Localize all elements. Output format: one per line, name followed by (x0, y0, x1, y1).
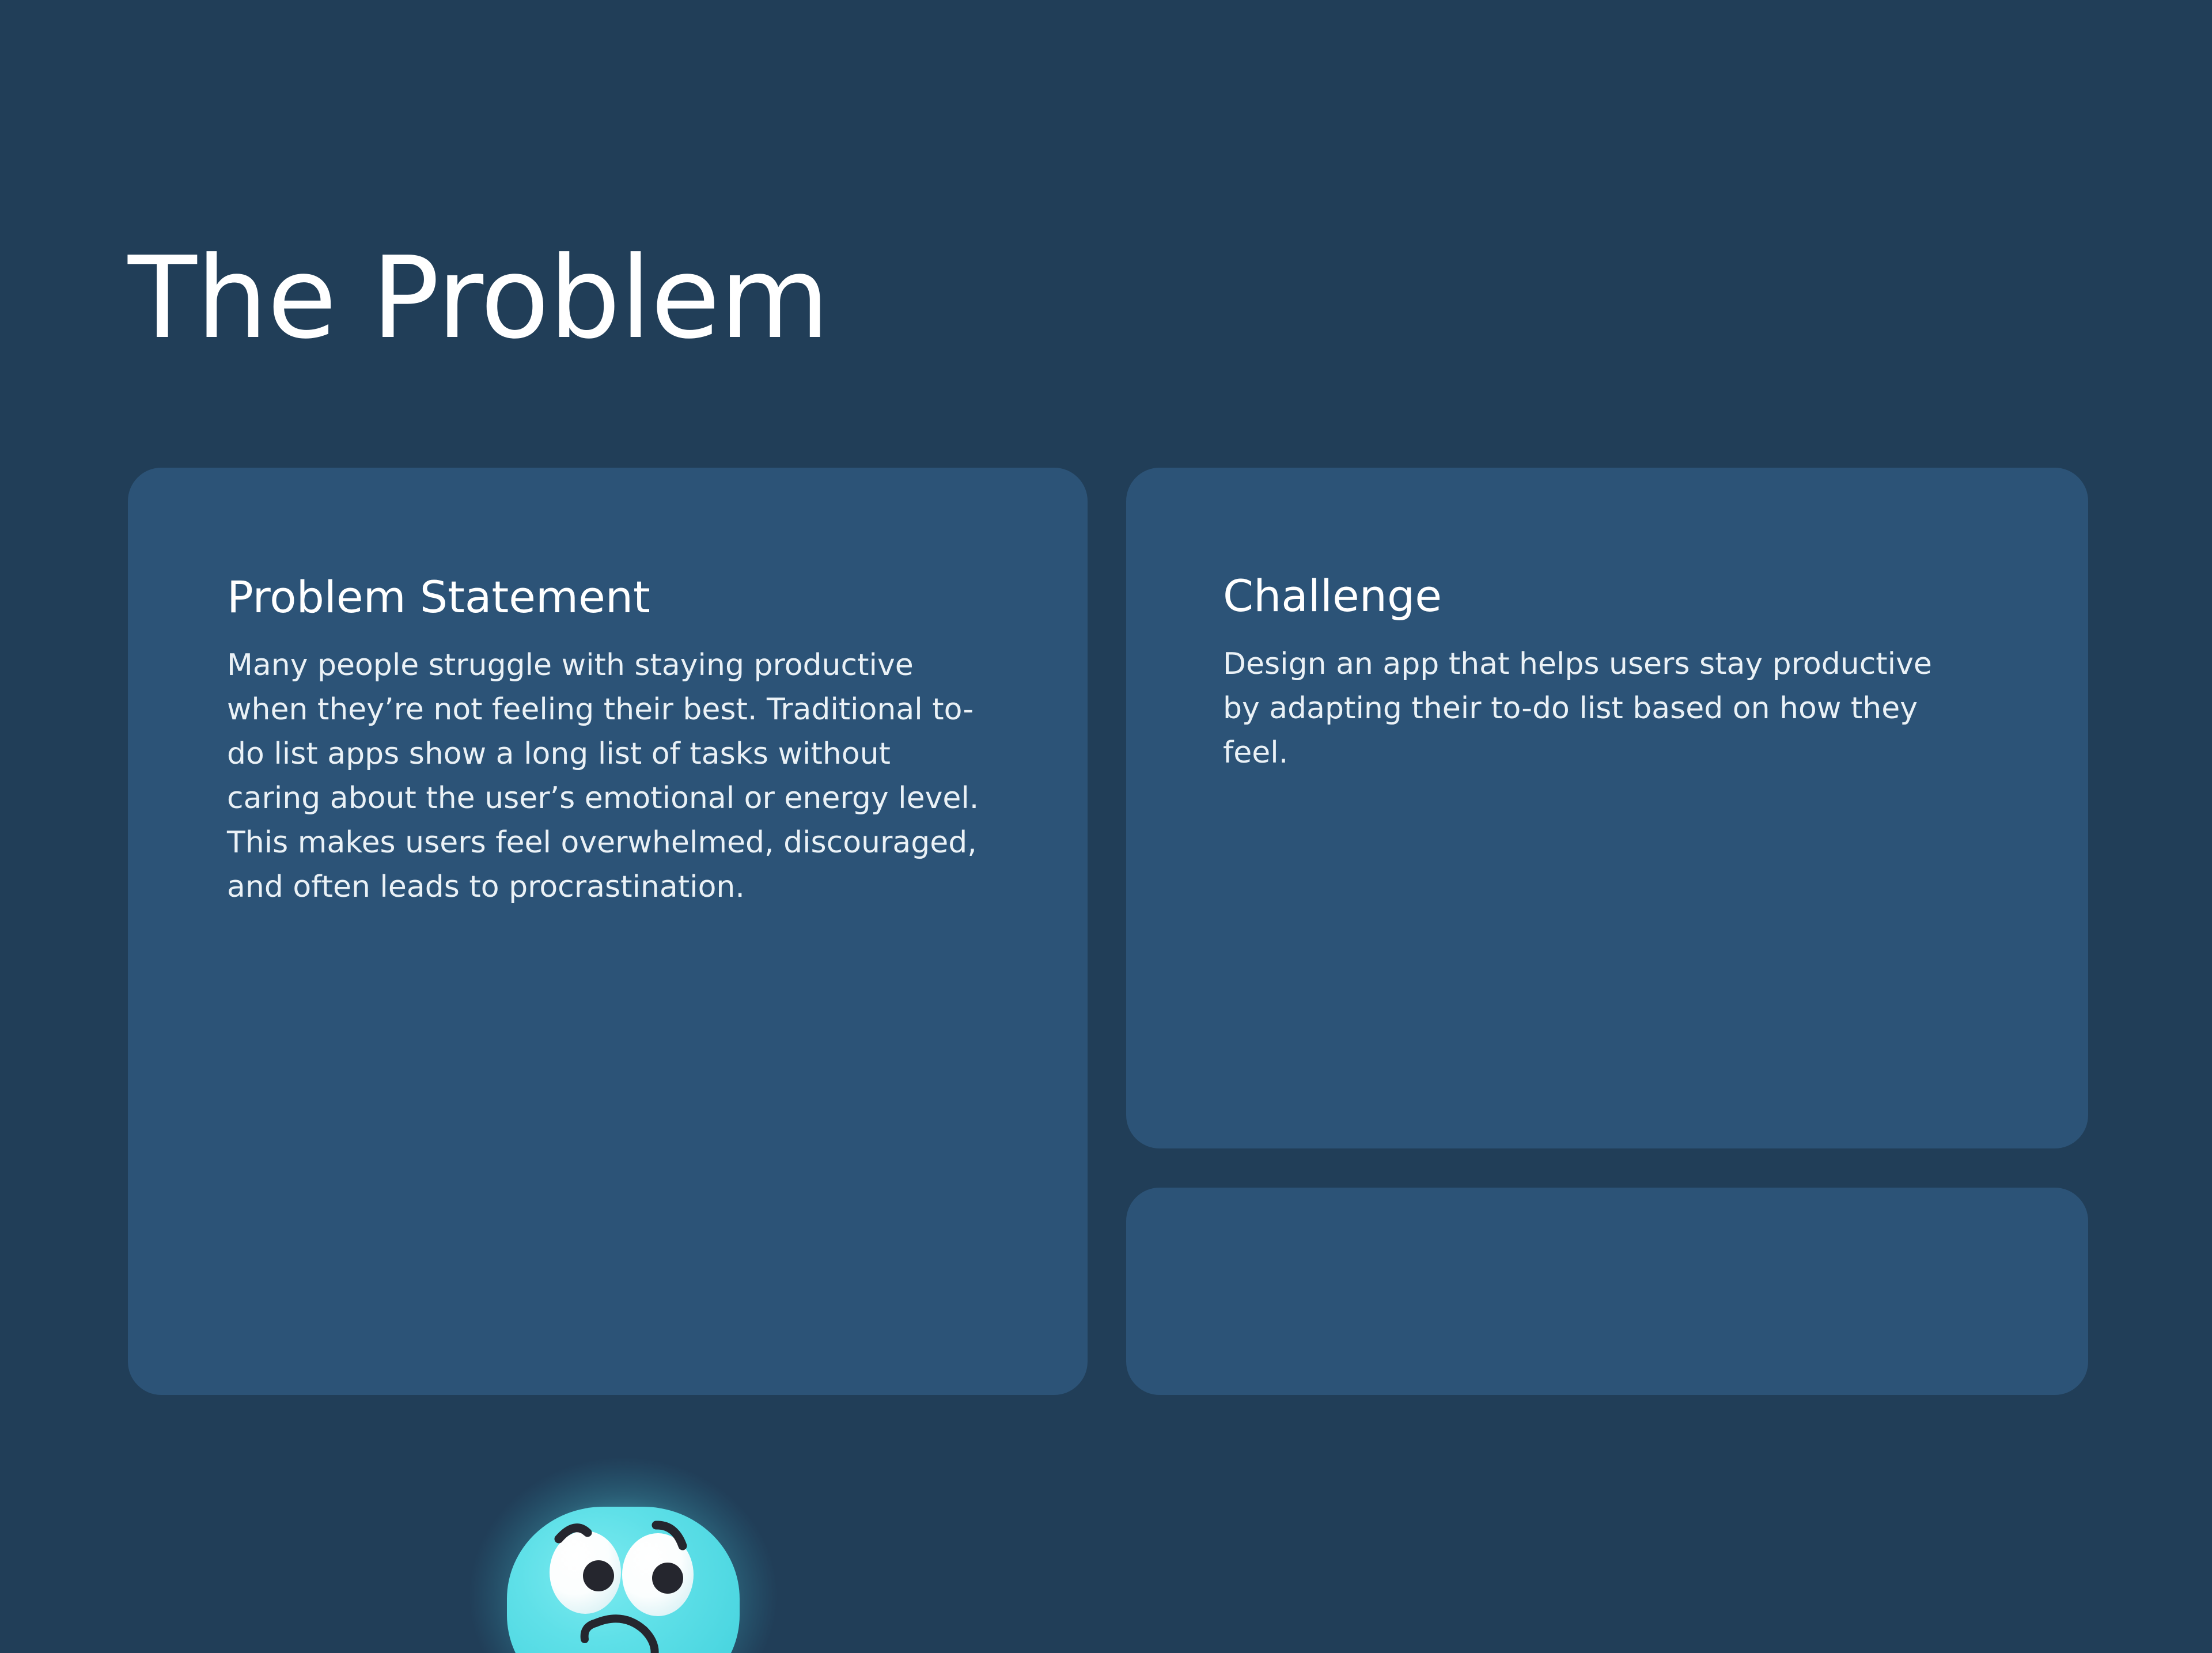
challenge-card: Challenge Design an app that helps users… (1126, 468, 2088, 1148)
challenge-body: Design an app that helps users stay prod… (1223, 642, 1972, 775)
problem-statement-heading: Problem Statement (227, 573, 995, 621)
challenge-heading: Challenge (1223, 571, 2002, 620)
challenge-content: Challenge Design an app that helps users… (1223, 571, 2002, 775)
slide-root: The Problem Problem Statement Many peopl… (0, 0, 2212, 1653)
sad-blob-mascot-icon (462, 1447, 785, 1653)
page-title: The Problem (128, 242, 829, 355)
problem-statement-card: Problem Statement Many people struggle w… (128, 468, 1088, 1395)
problem-statement-body: Many people struggle with staying produc… (227, 643, 987, 909)
problem-statement-content: Problem Statement Many people struggle w… (227, 573, 995, 909)
empty-placeholder-card (1126, 1188, 2088, 1395)
